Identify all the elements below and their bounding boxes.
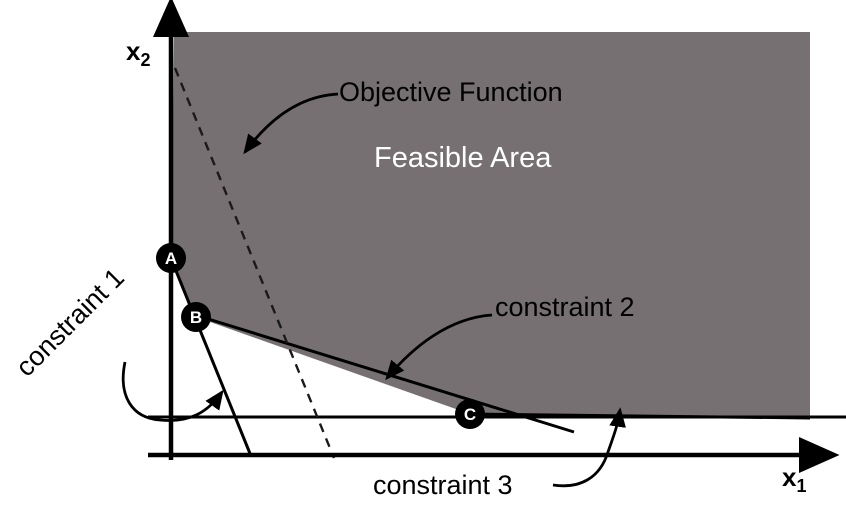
constraint-3-label: constraint 3: [373, 470, 513, 501]
vertex-a-label: A: [165, 249, 177, 268]
constraint-3-leader: [553, 410, 620, 486]
x-axis-label-base: x: [782, 462, 796, 492]
feasible-area-label: Feasible Area: [374, 142, 551, 175]
objective-function-label: Objective Function: [339, 77, 563, 108]
x-axis-label-subscript: 1: [796, 476, 806, 496]
lp-diagram: A B C Objective Function Feasible Area c…: [0, 0, 846, 518]
vertex-a: A: [156, 243, 186, 273]
x-axis-label: x1: [782, 462, 806, 497]
y-axis-label-base: x: [126, 36, 140, 66]
vertex-c-label: C: [464, 405, 476, 424]
vertex-b: B: [181, 302, 211, 332]
constraint-2-label: constraint 2: [495, 292, 635, 323]
y-axis-label-subscript: 2: [140, 50, 150, 70]
vertex-b-label: B: [190, 308, 202, 327]
vertex-c: C: [455, 399, 485, 429]
y-axis-label: x2: [126, 36, 150, 71]
